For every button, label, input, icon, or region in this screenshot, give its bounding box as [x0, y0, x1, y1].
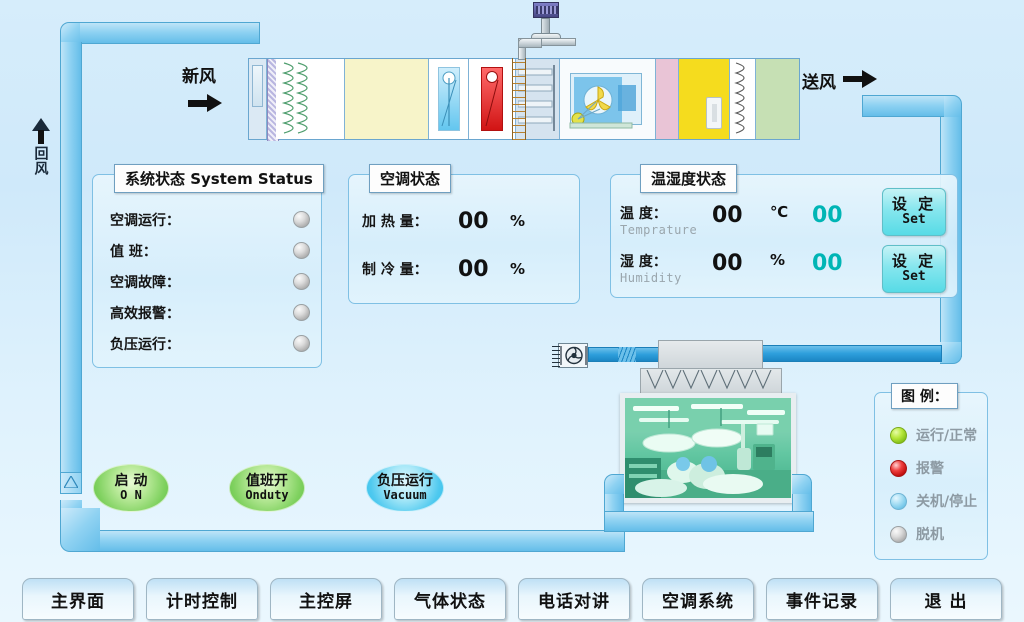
fresh-air-label: 新风: [182, 62, 216, 87]
onduty-button-cn: 值班开: [246, 474, 288, 489]
legend-lamp-gray: [890, 526, 907, 543]
cooling-value: 00: [458, 257, 510, 282]
nav-button-label: 电话对讲: [538, 587, 610, 612]
return-air-arrow-stem: [38, 130, 44, 144]
exhaust-fan-unit: [558, 343, 588, 368]
fresh-air-arrow-icon: [207, 94, 222, 112]
nav-button-main-panel[interactable]: 主控屏: [270, 578, 382, 620]
pipe-elbow-left: [518, 38, 542, 48]
damper-triangle-icon: [64, 477, 78, 488]
status-row-label: 高效报警：: [110, 303, 180, 323]
heating-value: 00: [458, 209, 510, 234]
ahu-section-medium-filter: [345, 59, 429, 139]
control-valve-actuator: [533, 2, 559, 18]
ahu-section-mixing: [249, 59, 267, 139]
humidity-value: 00: [712, 251, 770, 276]
fan-coil-fins-icon: [552, 344, 560, 367]
onduty-button[interactable]: 值班开 Onduty: [229, 464, 305, 512]
nav-button-main-screen[interactable]: 主界面: [22, 578, 134, 620]
supply-air-arrow-icon: [862, 70, 877, 88]
nav-button-intercom[interactable]: 电话对讲: [518, 578, 630, 620]
status-row-label: 值 班：: [110, 241, 157, 261]
return-air-label: 回风: [33, 146, 48, 179]
nav-button-label: 计时控制: [166, 587, 238, 612]
duct-top-horizontal: [80, 22, 260, 44]
temperature-value: 00: [712, 203, 770, 228]
duct-bottom-horizontal: [80, 530, 625, 552]
ahu-section-coil-bank: [276, 59, 345, 139]
onduty-button-en: Onduty: [245, 489, 288, 502]
status-lamp-negative-pressure: [293, 335, 310, 352]
status-lamp-hepa-alarm: [293, 304, 310, 321]
temperature-unit: ℃: [770, 203, 812, 221]
humidity-setpoint: 00: [812, 251, 843, 276]
duct-corner-topleft: [60, 22, 82, 44]
temperature-label: 温 度：: [620, 203, 712, 223]
diffuser-box: [640, 368, 782, 394]
ac-status-panel-title: 空调状态: [369, 164, 451, 193]
legend-panel-title: 图 例：: [891, 383, 958, 409]
ahu-section-outlet: [756, 59, 799, 139]
humidity-sublabel: Humidity: [620, 271, 712, 285]
humidity-label: 湿 度：: [620, 251, 712, 271]
supply-air-label: 送风: [802, 68, 836, 93]
nav-button-exit[interactable]: 退 出: [890, 578, 1002, 620]
status-lamp-ac-fault: [293, 273, 310, 290]
start-on-button[interactable]: 启 动 O N: [93, 464, 169, 512]
humidity-set-button-cn: 设 定: [892, 254, 936, 270]
ac-row-label: 加 热 量：: [362, 211, 458, 231]
hvac-mimic-diagram: 新风 送风 回风 系统状态 System Status 空调运行： 值 班： 空…: [0, 0, 1024, 622]
nav-button-label: 空调系统: [662, 587, 734, 612]
temperature-setpoint: 00: [812, 203, 843, 228]
flex-duct-connector: [618, 347, 636, 362]
cooling-coil-valve: [438, 67, 460, 131]
vacuum-button-en: Vacuum: [383, 489, 426, 502]
nav-button-label: 主界面: [51, 587, 105, 612]
system-status-panel-title: 系统状态 System Status: [114, 164, 324, 193]
nav-button-label: 气体状态: [414, 587, 486, 612]
status-row-label: 空调运行：: [110, 210, 180, 230]
duct-left-vertical: [60, 42, 82, 482]
drain-ladder-icon: [512, 58, 526, 140]
temperature-row: 温 度： Temprature 00 ℃ 00: [620, 203, 880, 237]
legend-label-stopped: 关机/停止: [916, 491, 977, 511]
temperature-set-button-cn: 设 定: [892, 197, 936, 213]
duct-corner-bottomleft-inner: [60, 508, 100, 552]
start-on-button-en: O N: [120, 489, 142, 502]
legend-item-stopped: 关机/停止: [890, 491, 977, 511]
nav-button-timer-control[interactable]: 计时控制: [146, 578, 258, 620]
valve-stem: [541, 18, 550, 34]
legend-item-running: 运行/正常: [890, 425, 977, 445]
humidity-row: 湿 度： Humidity 00 % 00: [620, 251, 880, 285]
temp-humidity-panel-title: 温湿度状态: [640, 164, 737, 193]
status-lamp-onduty: [293, 242, 310, 259]
ahu-section-heating-coil: [469, 59, 516, 139]
heating-unit: %: [510, 212, 525, 230]
fresh-air-arrow-stem: [188, 100, 208, 107]
humidity-set-button[interactable]: 设 定 Set: [882, 245, 946, 293]
humidity-set-button-en: Set: [902, 270, 925, 284]
legend-label-offline: 脱机: [916, 524, 944, 544]
ahu-section-fan: [560, 59, 656, 139]
start-on-button-cn: 启 动: [115, 474, 148, 489]
legend-lamp-green: [890, 427, 907, 444]
nav-button-label: 主控屏: [299, 587, 353, 612]
temperature-set-button[interactable]: 设 定 Set: [882, 188, 946, 236]
ahu-section-pink: [656, 59, 680, 139]
ac-row-label: 制 冷 量：: [362, 259, 458, 279]
ahu-section-hepa: [679, 59, 730, 139]
nav-button-label: 事件记录: [786, 587, 858, 612]
vacuum-button-cn: 负压运行: [377, 474, 433, 489]
ahu-section-cooling-coil: [429, 59, 468, 139]
duct-room-left-elbow: [604, 474, 624, 494]
duct-supply-to-right: [862, 95, 944, 117]
humidity-unit: %: [770, 251, 812, 269]
return-air-label-text: 回风: [34, 146, 48, 176]
duct-room-bottom-join: [604, 511, 814, 532]
temperature-set-button-en: Set: [902, 213, 925, 227]
ac-status-rows: 加 热 量： 00 % 制 冷 量： 00 %: [362, 203, 572, 287]
temperature-sublabel: Temprature: [620, 223, 712, 237]
legend-items: 运行/正常 报警 关机/停止 脱机: [890, 425, 977, 557]
legend-label-running: 运行/正常: [916, 425, 977, 445]
legend-label-alarm: 报警: [916, 458, 944, 478]
operating-room-camera-view[interactable]: [620, 393, 796, 503]
nav-button-event-log[interactable]: 事件记录: [766, 578, 878, 620]
status-lamp-ac-running: [293, 211, 310, 228]
duct-supply-to-room: [760, 345, 942, 362]
nav-button-label: 退 出: [925, 587, 968, 612]
cooling-unit: %: [510, 260, 525, 278]
heating-coil-valve: [481, 67, 503, 131]
legend-lamp-blue: [890, 493, 907, 510]
legend-item-alarm: 报警: [890, 458, 977, 478]
nav-button-gas-status[interactable]: 气体状态: [394, 578, 506, 620]
ahu-section-final-coil: [730, 59, 756, 139]
duct-corner-rightlower: [940, 342, 962, 364]
status-row-label: 负压运行：: [110, 334, 180, 354]
supply-air-arrow-stem: [843, 76, 863, 82]
bottom-navigation-bar: 主界面 计时控制 主控屏 气体状态 电话对讲 空调系统 事件记录 退 出: [0, 578, 1024, 622]
legend-lamp-red: [890, 460, 907, 477]
legend-item-offline: 脱机: [890, 524, 977, 544]
nav-button-hvac-system[interactable]: 空调系统: [642, 578, 754, 620]
pipe-horizontal-valve: [540, 38, 576, 46]
vacuum-button[interactable]: 负压运行 Vacuum: [366, 464, 444, 512]
ahu-section-prefilter: [267, 59, 277, 139]
status-row-label: 空调故障：: [110, 272, 180, 292]
duct-room-right-elbow: [792, 474, 812, 494]
system-status-rows: 空调运行： 值 班： 空调故障： 高效报警： 负压运行：: [110, 204, 310, 359]
